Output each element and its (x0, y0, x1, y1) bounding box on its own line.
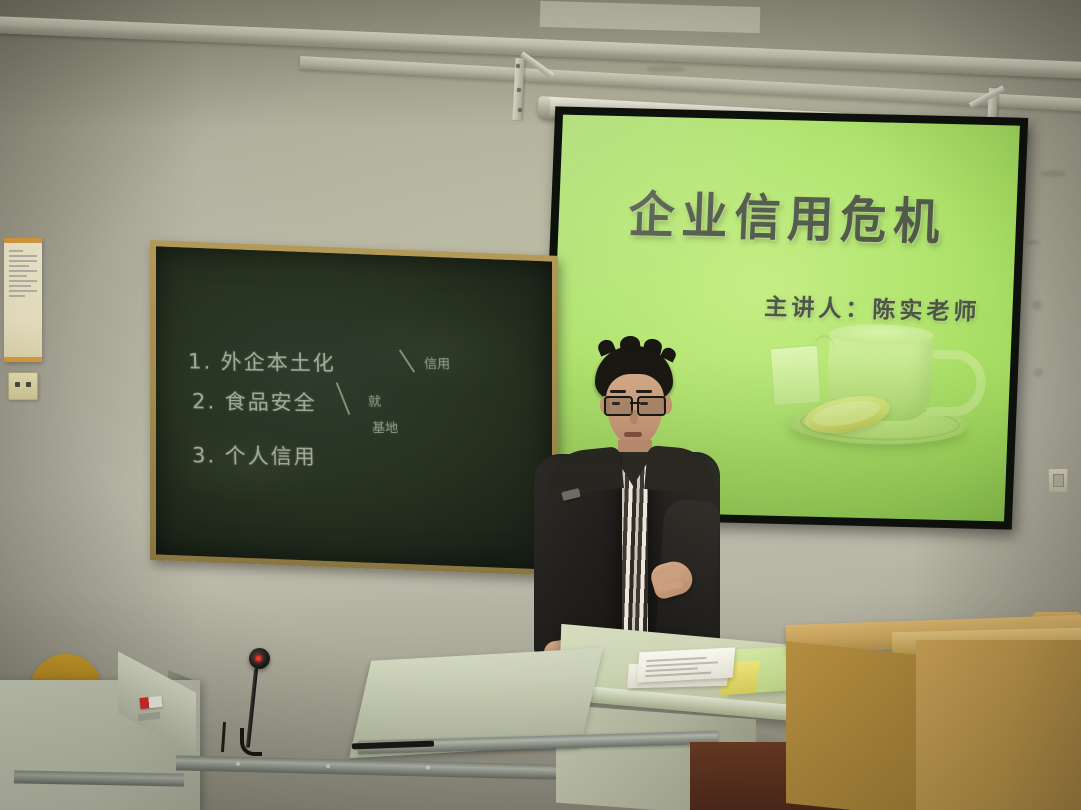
notice-text-line (9, 295, 25, 297)
light-switch[interactable] (1048, 468, 1068, 492)
notice-text-line (9, 275, 27, 277)
power-outlet[interactable] (8, 372, 38, 400)
rail-screw (236, 762, 240, 766)
notice-text-line (9, 290, 37, 292)
chalk-annotation-1: 信用 (424, 353, 451, 372)
bracket-screw (516, 64, 520, 68)
paper-line (646, 661, 718, 666)
microphone-indicator-led (255, 655, 262, 662)
wall-mark (1034, 368, 1043, 377)
notice-text-line (9, 255, 37, 257)
slide-title: 企业信用危机 (558, 174, 1018, 256)
nose (630, 410, 638, 424)
notice-text-line (9, 250, 23, 252)
paper-line (645, 672, 711, 677)
paper-line (647, 657, 707, 662)
lens-right (637, 396, 666, 416)
wall-mark (1026, 240, 1040, 245)
paper-sheet[interactable] (637, 647, 736, 682)
classroom-photo-scene: 企业信用危机 主讲人：陈实老师 1. 外企本土化 2. 食品安全 3 (0, 0, 1081, 810)
notice-text-line (9, 260, 37, 262)
notice-text-line (9, 270, 37, 272)
notice-text-line (9, 280, 37, 282)
eyebrow-right (636, 390, 652, 393)
green-chalkboard: 1. 外企本土化 2. 食品安全 3. 个人信用 信用 就 基地 (150, 240, 558, 576)
paper-line (646, 667, 698, 671)
chalkboard-surface: 1. 外企本土化 2. 食品安全 3. 个人信用 信用 就 基地 (156, 246, 552, 569)
wooden-desk-side-panel (786, 641, 918, 810)
chalk-line-1: 1. 外企本土化 (188, 345, 336, 377)
rail-screw (426, 765, 430, 769)
roller-end-cap (537, 96, 550, 119)
mouth (624, 432, 642, 437)
tea-bag (770, 344, 822, 406)
lens-left (604, 396, 633, 416)
chalk-line-2: 2. 食品安全 (192, 385, 317, 417)
console-red-badge (139, 696, 162, 709)
wall-mark (1032, 300, 1042, 310)
light-switch-rocker (1053, 474, 1064, 487)
rail-screw (326, 764, 330, 768)
chalk-line-3: 3. 个人信用 (192, 439, 317, 471)
bracket-screw (518, 108, 522, 112)
wall-notice-poster (4, 238, 42, 362)
wall-mark (646, 66, 686, 72)
slide-teacup-graphic (769, 322, 984, 457)
chalk-annotation-2: 就 (368, 391, 382, 410)
wooden-desk-body (916, 640, 1081, 810)
eye-right (640, 402, 648, 405)
chalk-annotation-3: 基地 (372, 417, 399, 436)
jacket-shoulder-right (644, 445, 718, 495)
outlet-slot (26, 382, 31, 387)
slide-subtitle: 主讲人：陈实老师 (764, 288, 981, 327)
wall-mark (1040, 170, 1066, 177)
notice-text-line (9, 265, 29, 267)
eyebrow-left (610, 390, 626, 393)
outlet-slot (15, 382, 20, 387)
glasses-bridge (630, 402, 640, 404)
notice-text-line (9, 285, 31, 287)
eye-left (612, 402, 620, 405)
bracket-screw (517, 88, 521, 92)
